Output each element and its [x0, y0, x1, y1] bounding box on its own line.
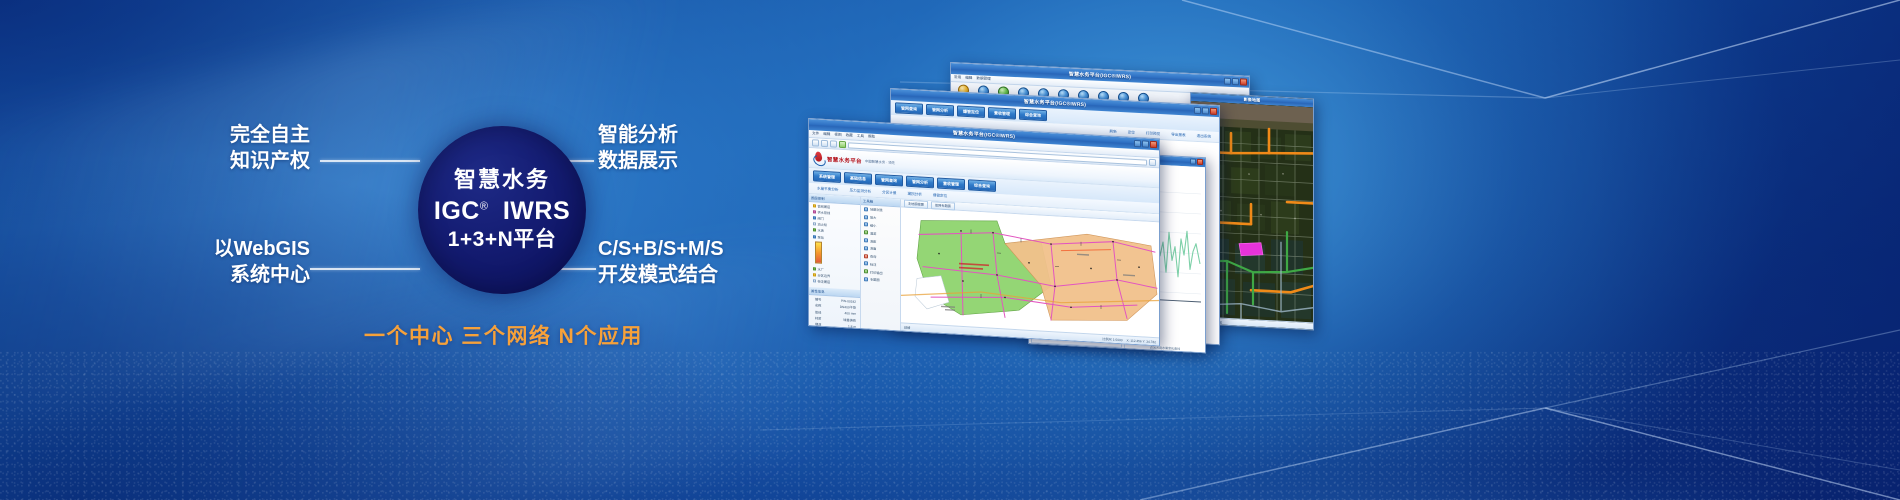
window-controls[interactable]: [1134, 139, 1157, 147]
layer-panel[interactable]: 图层控制 管网图层 供水管线 阀门 消火栓 水表 泵站 水厂 分区边界 标注图层…: [809, 194, 861, 328]
tool-label: 缩小: [870, 223, 876, 228]
search-icon[interactable]: [1149, 159, 1156, 166]
tool-item: 专题图: [861, 275, 900, 285]
attr-key: 状态: [815, 340, 821, 345]
nav-button[interactable]: 营收管理: [988, 107, 1016, 119]
menu-help[interactable]: 帮助: [868, 134, 875, 139]
attr-value: DN400干管: [840, 304, 856, 310]
home-icon[interactable]: [839, 141, 846, 148]
toolbar-link[interactable]: 退出系统: [1193, 132, 1215, 140]
connector-bottom-left: [310, 268, 420, 270]
tree-item-label: 阀门: [818, 216, 824, 221]
nav-button[interactable]: 管网分析: [906, 176, 934, 189]
window-front[interactable]: 智慧水务平台(IGC®IWRS) 文件 编辑 视图 收藏 工具 帮助: [808, 118, 1160, 346]
subnav-button[interactable]: 水量平衡分析: [813, 185, 843, 194]
minimize-button[interactable]: [1190, 158, 1196, 164]
menu-tools[interactable]: 工具: [857, 134, 864, 139]
tool-label: 专题图: [870, 277, 880, 283]
subnav-button[interactable]: 漏损分析: [904, 190, 926, 198]
subnav-button[interactable]: 爆管定位: [929, 192, 951, 200]
attr-key: 名称: [815, 303, 821, 308]
attr-row: 压力0.32 MPa: [811, 327, 858, 336]
window-front-wrap: 智慧水务平台(IGC®IWRS) 文件 编辑 视图 收藏 工具 帮助: [808, 118, 1160, 346]
hub-circle: 智慧水务 IGC® IWRS 1+3+N平台: [418, 126, 586, 294]
tool-label: 漫游: [870, 230, 876, 235]
menu-file[interactable]: 文件: [812, 131, 819, 136]
feature-label-bottom-left: 以WebGIS 系统中心: [186, 236, 310, 288]
feature-line-2: 知识产权: [200, 148, 310, 174]
window-controls[interactable]: [1190, 158, 1203, 165]
nav-button[interactable]: 综合查询: [968, 179, 996, 192]
attr-key: 编号: [815, 297, 821, 302]
attr-value: 400 mm: [844, 311, 856, 316]
status-coordinates: X: 112.456 Y: 34.782: [1127, 338, 1156, 344]
tree-item-label: 水厂: [818, 266, 824, 271]
window-title: 智慧水务平台(IGC®IWRS): [1024, 98, 1086, 108]
window-title: 智慧水务平台(IGC®IWRS): [1069, 70, 1131, 80]
hub-product-iwrs: IWRS: [503, 197, 570, 225]
nav-button[interactable]: 基础信息: [844, 172, 872, 185]
toolbar-link[interactable]: 刷新: [1106, 128, 1121, 136]
tree-item-label: 管网图层: [818, 203, 831, 209]
nav-button[interactable]: 管网查询: [875, 174, 903, 187]
tree-item-label: 泵站: [818, 234, 824, 239]
feature-label-top-right: 智能分析 数据展示: [598, 122, 778, 174]
tool-label: 地图浏览: [870, 207, 883, 213]
window-controls[interactable]: [1194, 106, 1217, 114]
attr-row: 建设年2011: [811, 333, 858, 342]
close-button[interactable]: [1240, 78, 1247, 85]
hub-product: IGC® IWRS: [434, 197, 570, 225]
legend-color-ramp: [815, 242, 822, 264]
nav-button[interactable]: 营收管理: [937, 177, 965, 190]
zoom-out-icon[interactable]: [1143, 214, 1148, 219]
attr-key: 管径: [815, 309, 821, 314]
menu-edit[interactable]: 编辑: [823, 132, 830, 137]
refresh-icon[interactable]: [830, 140, 837, 147]
attr-key: 压力: [815, 328, 821, 333]
map-canvas[interactable]: 主地图视图 管网专题图: [901, 199, 1159, 345]
registered-mark-icon: ®: [480, 201, 488, 213]
tool-label: 标注: [870, 261, 876, 266]
water-drop-logo-icon: [813, 151, 824, 165]
toolbar-link[interactable]: 导出报表: [1167, 131, 1189, 139]
toolbar-link[interactable]: 定位: [1124, 129, 1139, 137]
attribute-list[interactable]: 编号PW-00182 名称DN400干管 管径400 mm 材质球墨铸铁 埋深1…: [809, 295, 860, 347]
window-title: 智慧水务平台(IGC®IWRS): [953, 129, 1015, 140]
minimize-button[interactable]: [1194, 106, 1201, 113]
attr-key: 埋深: [815, 321, 821, 326]
ribbon-tab-1[interactable]: 编辑: [965, 76, 972, 81]
attr-value: 2011: [849, 336, 856, 340]
tree-item-label: 消火栓: [818, 222, 828, 228]
menu-favorites[interactable]: 收藏: [846, 133, 853, 138]
nav-button[interactable]: 综合查询: [1019, 109, 1047, 121]
attr-key: 材质: [815, 315, 821, 320]
hub-platform: 1+3+N平台: [448, 227, 557, 252]
subnav-button[interactable]: 分区计量: [878, 189, 900, 197]
menu-view[interactable]: 视图: [834, 133, 841, 138]
chart-caption: 近30天用水量变化曲线: [1125, 344, 1205, 352]
gis-map-svg[interactable]: [901, 207, 1159, 338]
hub-product-igc: IGC: [434, 197, 480, 225]
attr-value: 1.8 m: [848, 324, 856, 328]
attr-key: 建设年: [815, 334, 825, 340]
status-ready: 就绪: [904, 325, 910, 330]
attr-value: 运行: [850, 342, 856, 346]
close-button[interactable]: [1197, 159, 1203, 165]
close-button[interactable]: [1210, 107, 1217, 114]
tool-label: 测距: [870, 238, 876, 243]
tool-label: 打印输出: [870, 269, 883, 275]
maximize-button[interactable]: [1232, 77, 1239, 84]
zoom-in-icon[interactable]: [1135, 214, 1140, 219]
pan-icon[interactable]: [1151, 215, 1156, 220]
forward-icon[interactable]: [821, 140, 828, 147]
attr-value: 球墨铸铁: [843, 317, 856, 323]
feature-label-top-left: 完全自主 知识产权: [200, 122, 310, 174]
brand-subtitle: 中国智慧水务 · 领先: [865, 158, 895, 165]
close-button[interactable]: [1150, 140, 1157, 147]
feature-line-1: 以WebGIS: [186, 236, 310, 262]
nav-button[interactable]: 爆管定位: [957, 105, 985, 117]
feature-line-2: 系统中心: [186, 262, 310, 288]
tagline: 一个中心 三个网络 N个应用: [364, 320, 643, 350]
connector-top-left: [320, 160, 420, 162]
value-proposition-diagram: 完全自主 知识产权 以WebGIS 系统中心 智能分析 数据展示 C/S+B/S…: [0, 0, 830, 500]
brand-name: 智慧水务平台: [827, 155, 862, 165]
nav-button[interactable]: 管网分析: [926, 104, 954, 116]
minimize-button[interactable]: [1134, 139, 1141, 146]
ribbon-tab-0[interactable]: 常用: [954, 75, 961, 80]
window-controls[interactable]: [1224, 77, 1247, 85]
tool-label: 放大: [870, 215, 876, 220]
tree-item-label: 标注图层: [818, 279, 831, 285]
maximize-button[interactable]: [1202, 107, 1209, 114]
status-scale: 比例尺 1:5000: [1102, 336, 1122, 342]
toolbox-panel[interactable]: 工具箱 地图浏览 放大 缩小 漫游 测距 测面 查询 标注 打印输出 专题图: [861, 197, 901, 330]
tree-item-label: 分区边界: [818, 272, 831, 278]
screenshot-stack: 智慧水务平台(IGC®IWRS) 常用 编辑 数据管理 新建工程 数据导入 图层: [760, 0, 1900, 500]
tool-label: 测面: [870, 246, 876, 251]
tree-item-label: 供水管线: [818, 209, 831, 215]
subnav-button[interactable]: 压力监测分析: [846, 187, 876, 196]
gis-workspace: 图层控制 管网图层 供水管线 阀门 消火栓 水表 泵站 水厂 分区边界 标注图层…: [809, 194, 1159, 345]
attr-value: PW-00182: [841, 299, 856, 304]
nav-button[interactable]: 管网查询: [895, 102, 923, 114]
feature-line-2: 数据展示: [598, 148, 778, 174]
tree-item-label: 水表: [818, 228, 824, 233]
minimize-button[interactable]: [1224, 77, 1231, 84]
back-icon[interactable]: [812, 139, 819, 146]
banner-root: 完全自主 知识产权 以WebGIS 系统中心 智能分析 数据展示 C/S+B/S…: [0, 0, 1900, 500]
window-title: 影像地图: [1244, 97, 1261, 104]
feature-line-1: 智能分析: [598, 122, 778, 148]
feature-line-1: 完全自主: [200, 122, 310, 148]
nav-button[interactable]: 系统管理: [813, 170, 841, 183]
attr-row: 状态运行: [811, 339, 858, 346]
hub-title: 智慧水务: [454, 168, 550, 192]
tool-label: 查询: [870, 254, 876, 259]
toolbar-link[interactable]: 打印预览: [1142, 130, 1164, 138]
attr-value: 0.32 MPa: [842, 330, 856, 335]
maximize-button[interactable]: [1142, 140, 1149, 147]
ribbon-tab-2[interactable]: 数据管理: [976, 76, 990, 82]
